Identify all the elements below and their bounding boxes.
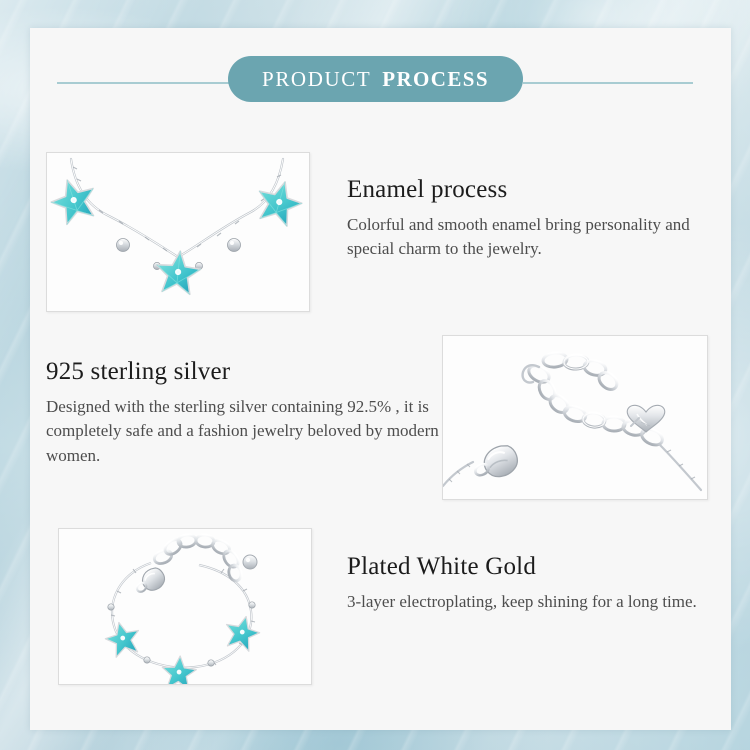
clasp-extender-photo-inner (443, 336, 707, 499)
section-body: Designed with the sterling silver contai… (46, 395, 451, 469)
star-necklace-photo-inner (47, 153, 309, 311)
bracelet-illustration (59, 529, 311, 684)
content-card: PRODUCT PROCESS (30, 28, 731, 730)
star-bracelet-photo (58, 528, 312, 685)
section-sterling-silver: 925 sterling silver Designed with the st… (46, 358, 451, 468)
header-title-light: PRODUCT (262, 67, 371, 92)
star-bracelet-photo-inner (59, 529, 311, 684)
clasp-illustration (443, 336, 707, 499)
page-header: PRODUCT PROCESS (30, 56, 731, 102)
header-rule-left (57, 82, 232, 84)
section-plated-white-gold: Plated White Gold 3-layer electroplating… (347, 553, 697, 614)
section-heading: 925 sterling silver (46, 358, 451, 386)
clasp-extender-photo (442, 335, 708, 500)
section-body: 3-layer electroplating, keep shining for… (347, 590, 697, 615)
section-enamel-process: Enamel process Colorful and smooth ename… (347, 176, 697, 262)
header-title-bold: PROCESS (382, 67, 489, 92)
header-rule-right (523, 82, 693, 84)
header-title-pill: PRODUCT PROCESS (228, 56, 523, 102)
section-heading: Plated White Gold (347, 553, 697, 581)
section-body: Colorful and smooth enamel bring persona… (347, 213, 697, 262)
necklace-illustration (47, 153, 309, 311)
section-heading: Enamel process (347, 176, 697, 204)
star-necklace-photo (46, 152, 310, 312)
infographic-page: PRODUCT PROCESS (0, 0, 750, 750)
